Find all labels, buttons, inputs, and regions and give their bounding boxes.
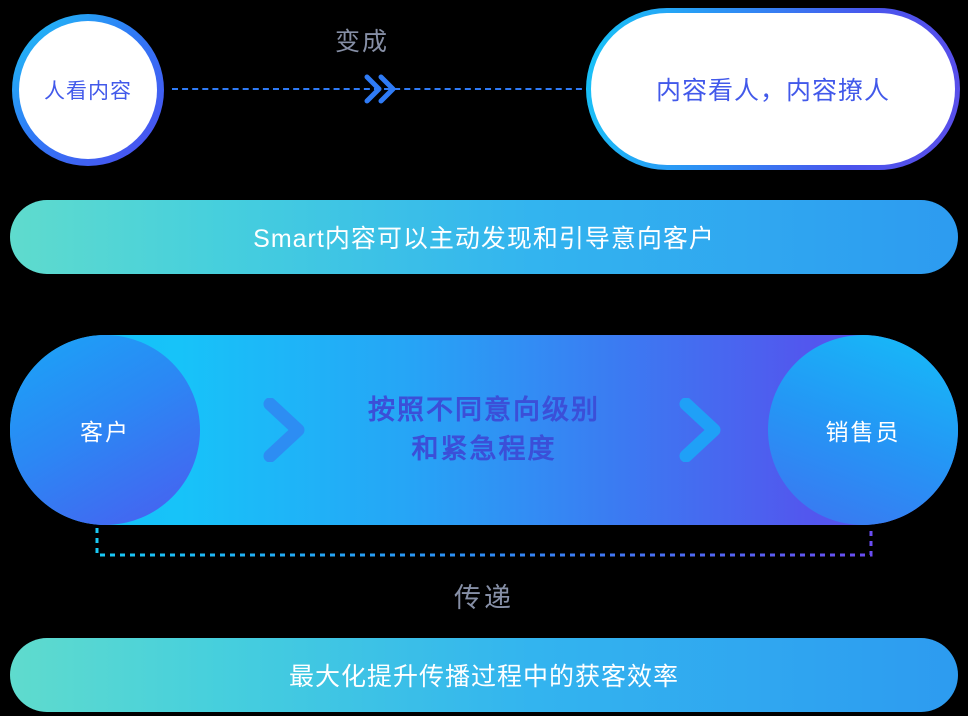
double-chevron-right-icon [364,74,398,104]
human-views-content-circle: 人看内容 [12,14,164,166]
banner-smart-content: Smart内容可以主动发现和引导意向客户 [10,200,958,274]
human-views-content-label: 人看内容 [44,75,132,105]
banner-maximize-efficiency-label: 最大化提升传播过程中的获客效率 [289,657,679,693]
content-engages-people-pill: 内容看人，内容撩人 [586,8,960,170]
transition-label: 变成 [335,22,389,58]
transfer-bracket [94,528,874,558]
chevron-right-icon-left [262,398,308,462]
chevron-right-icon-right [678,398,724,462]
flow-center-text: 按照不同意向级别 和紧急程度 [368,391,600,469]
flow-node-salesperson-label: 销售员 [826,413,901,447]
content-engages-people-label: 内容看人，内容撩人 [656,71,890,107]
diagram-canvas: 人看内容 变成 内容看人，内容撩人 Smart内容可以主动发现和引导意向客户 客… [0,0,968,716]
flow-band: 客户 按照不同意向级别 和紧急程度 销售员 [10,335,958,525]
flow-node-salesperson: 销售员 [768,335,958,525]
banner-maximize-efficiency: 最大化提升传播过程中的获客效率 [10,638,958,712]
flow-node-customer: 客户 [10,335,200,525]
transfer-label: 传递 [0,576,968,615]
flow-center-line-2: 和紧急程度 [368,430,600,469]
flow-center-line-1: 按照不同意向级别 [368,391,600,430]
banner-smart-content-label: Smart内容可以主动发现和引导意向客户 [253,219,715,255]
flow-node-customer-label: 客户 [80,413,130,447]
